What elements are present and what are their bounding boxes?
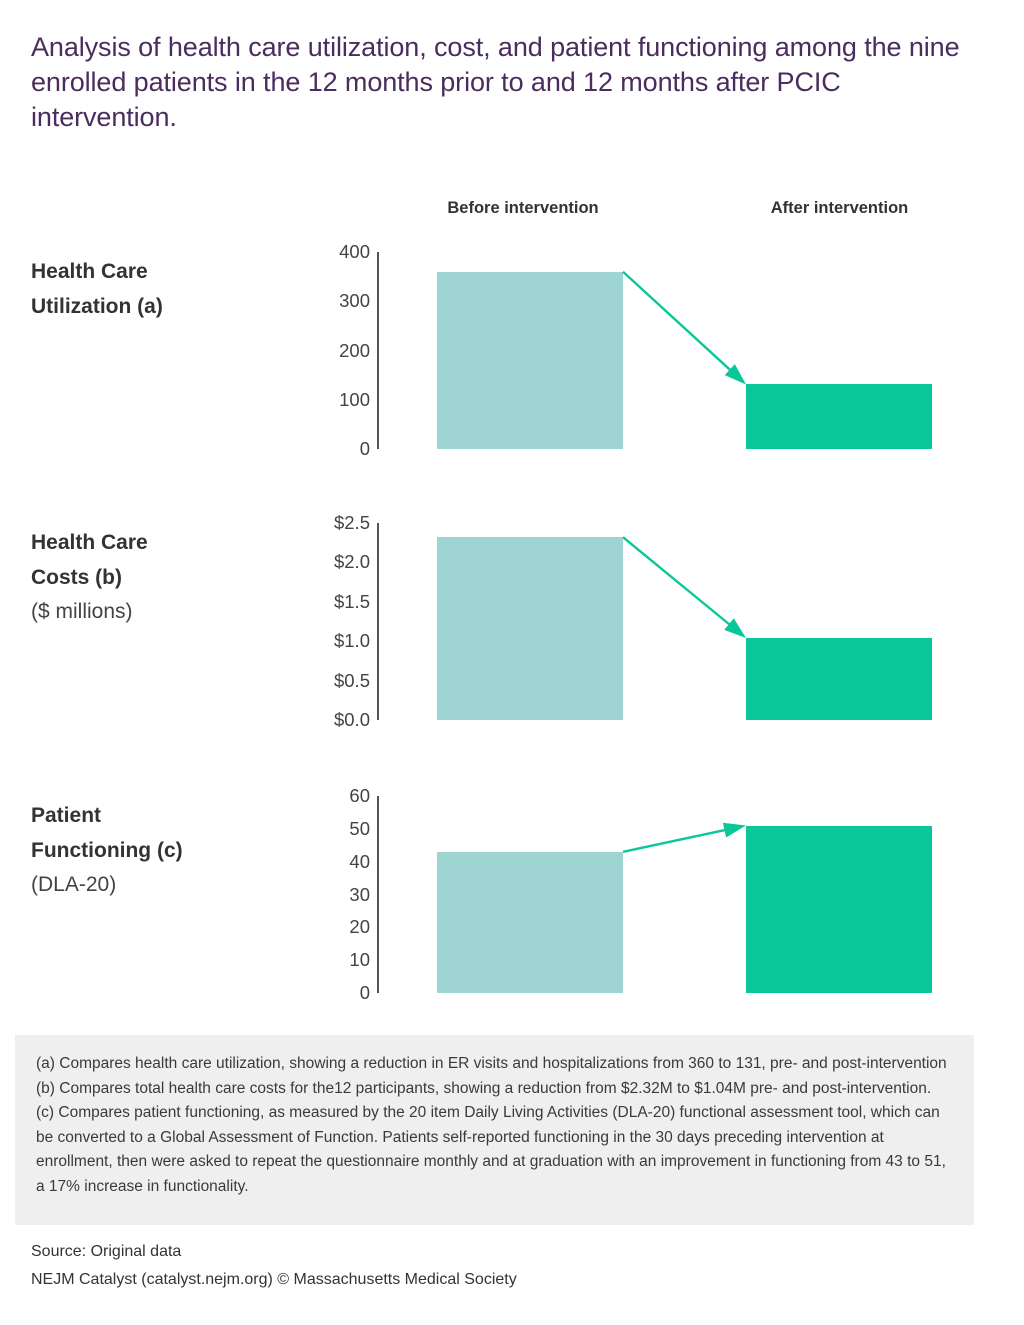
y-tick-label-text: $2.5 [334, 512, 370, 533]
y-tick-label: $0.0 [170, 709, 370, 731]
y-tick-label: 0 [170, 438, 370, 460]
bar-after [746, 826, 932, 993]
trend-arrow-line [623, 537, 732, 626]
y-tick-label-text: $0.0 [334, 709, 370, 730]
column-header-before: Before intervention [420, 199, 626, 218]
y-tick-label-text: 300 [339, 290, 370, 311]
bar-before [437, 272, 623, 449]
y-tick-label: 100 [170, 389, 370, 411]
y-tick-label: 200 [170, 340, 370, 362]
y-tick-label: $2.5 [170, 512, 370, 534]
bar-before [437, 537, 623, 720]
trend-arrow-line [623, 829, 728, 852]
row-label: Health CareUtilization (a) [31, 254, 331, 324]
credit-line: NEJM Catalyst (catalyst.nejm.org) © Mass… [31, 1271, 517, 1289]
y-axis-line [377, 252, 379, 449]
y-tick-label: $2.0 [170, 551, 370, 573]
y-tick-label-text: 100 [339, 389, 370, 410]
y-tick-label-text: 20 [349, 916, 370, 937]
y-tick-label-text: 200 [339, 340, 370, 361]
y-tick-label: 40 [170, 851, 370, 873]
y-tick-label: 0 [170, 982, 370, 1004]
trend-arrow-line [623, 272, 733, 373]
y-tick-label-text: 10 [349, 949, 370, 970]
y-tick-label: 400 [170, 241, 370, 263]
figure-caption: (a) Compares health care utilization, sh… [15, 1035, 974, 1225]
bar-before [437, 852, 623, 993]
y-tick-label: 30 [170, 884, 370, 906]
y-tick-label: 20 [170, 916, 370, 938]
trend-arrow-head [724, 618, 746, 638]
bar-after [746, 638, 932, 720]
y-tick-label-text: 400 [339, 241, 370, 262]
y-tick-label: 50 [170, 818, 370, 840]
column-header-after: After intervention [746, 199, 933, 218]
y-tick-label-text: 40 [349, 851, 370, 872]
y-tick-label: $1.0 [170, 630, 370, 652]
y-tick-label-text: 50 [349, 818, 370, 839]
y-tick-label: $1.5 [170, 591, 370, 613]
y-tick-label-text: 60 [349, 785, 370, 806]
y-tick-label-text: 30 [349, 884, 370, 905]
y-tick-label-text: $1.5 [334, 591, 370, 612]
y-tick-label-text: 0 [360, 982, 370, 1003]
y-tick-label: 10 [170, 949, 370, 971]
trend-arrow-head [725, 364, 746, 384]
y-tick-label-text: $0.5 [334, 670, 370, 691]
y-axis-line [377, 796, 379, 993]
page-title: Analysis of health care utilization, cos… [31, 30, 961, 135]
bar-after [746, 384, 932, 449]
row-label: Health CareCosts (b)($ millions) [31, 525, 331, 629]
y-tick-label: $0.5 [170, 670, 370, 692]
y-tick-label-text: 0 [360, 438, 370, 459]
y-axis-line [377, 523, 379, 720]
y-tick-label: 300 [170, 290, 370, 312]
y-tick-label-text: $2.0 [334, 551, 370, 572]
trend-arrow-head [723, 823, 746, 838]
y-tick-label: 60 [170, 785, 370, 807]
y-tick-label-text: $1.0 [334, 630, 370, 651]
source-line: Source: Original data [31, 1243, 181, 1261]
